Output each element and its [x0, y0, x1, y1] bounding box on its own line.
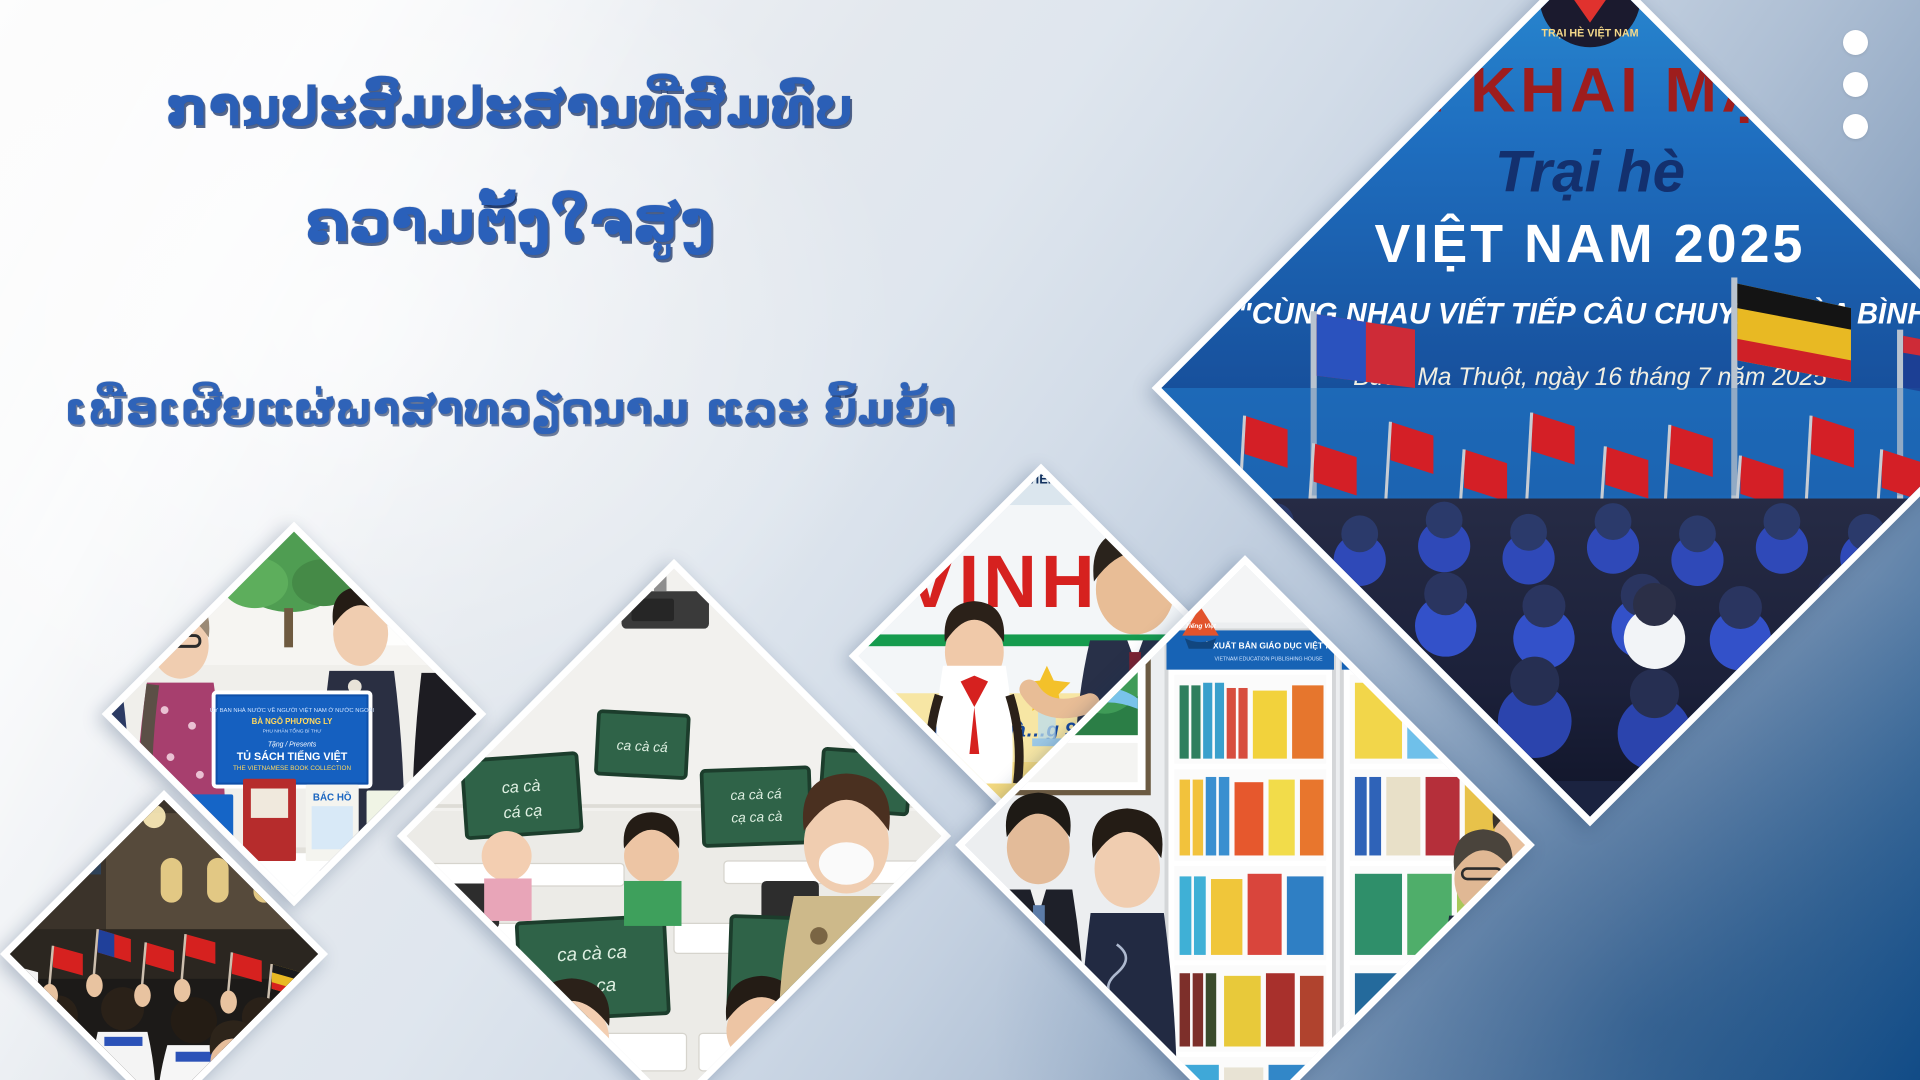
svg-text:ca cà cá: ca cà cá	[730, 786, 782, 803]
svg-text:THE VIETNAMESE BOOK COLLECTION: THE VIETNAMESE BOOK COLLECTION	[233, 765, 351, 772]
svg-text:cá cạ: cá cạ	[503, 802, 543, 823]
svg-text:Tiếng Việt: Tiếng Việt	[1185, 622, 1217, 630]
headline-line-2: ຄວາມຕັ້ງໃຈສູງ	[0, 182, 1020, 260]
headline-line-1: ການປະສົມປະສານທີ່ສົມທົບ	[0, 74, 1020, 142]
svg-text:ca cà cá: ca cà cá	[616, 738, 668, 756]
svg-text:cạ ca cà: cạ ca cà	[731, 809, 783, 826]
svg-text:LỄ KHAI MẠC: LỄ KHAI MẠC	[1358, 55, 1821, 126]
presentation-slide: ການປະສົມປະສານທີ່ສົມທົບ ຄວາມຕັ້ງໃຈສູງ ເພື…	[0, 0, 1920, 1080]
svg-text:Tặng / Presents: Tặng / Presents	[268, 741, 317, 748]
svg-text:ca cà: ca cà	[501, 777, 541, 798]
svg-text:BÁC HỒ: BÁC HỒ	[313, 791, 352, 803]
svg-text:NHÀ XUẤT BẢN GIÁO DỤC VIỆT NAM: NHÀ XUẤT BẢN GIÁO DỤC VIỆT NAM	[1192, 640, 1345, 651]
svg-text:TRẠI HÈ VIỆT NAM: TRẠI HÈ VIỆT NAM	[1541, 26, 1638, 39]
svg-text:TỦ SÁCH TIẾNG VIỆT: TỦ SÁCH TIẾNG VIỆT	[237, 750, 348, 763]
menu-dot-icon[interactable]	[1843, 114, 1868, 139]
svg-text:BÀ NGÔ PHƯƠNG LY: BÀ NGÔ PHƯƠNG LY	[252, 717, 334, 726]
headline-block: ການປະສົມປະສານທີ່ສົມທົບ ຄວາມຕັ້ງໃຈສູງ ເພື…	[0, 74, 1020, 440]
headline-line-3: ເພື່ອເຜີຍແຜ່ພາສາທວຽດນາມ ແລະ ຍິ້ມຍ້າ	[0, 380, 1020, 439]
svg-text:VIỆT NAM 2025: VIỆT NAM 2025	[1374, 213, 1805, 274]
svg-text:PHU NHÂN TỔNG BÍ THƯ: PHU NHÂN TỔNG BÍ THƯ	[263, 728, 322, 735]
svg-text:THỦ ĐÔ VIÊNG CHĂN: THỦ ĐÔ VIÊNG CHĂN	[975, 474, 1107, 487]
svg-text:Trại hè: Trại hè	[1495, 139, 1685, 204]
menu-dot-icon[interactable]	[1843, 72, 1868, 97]
svg-text:VINH: VINH	[905, 540, 1099, 623]
svg-text:ỦY BAN NHÀ NƯỚC VỀ NGƯỜI VIỆT: ỦY BAN NHÀ NƯỚC VỀ NGƯỜI VIỆT NAM Ở NƯỚC…	[210, 706, 375, 714]
more-options-menu[interactable]	[1843, 30, 1868, 139]
svg-text:ca cà ca: ca cà ca	[557, 941, 628, 966]
menu-dot-icon[interactable]	[1843, 30, 1868, 55]
svg-text:NGÀY HỘI: NGÀY HỘI	[29, 829, 74, 840]
svg-text:Buôn Ma Thuột, ngày 16 tháng 7: Buôn Ma Thuột, ngày 16 tháng 7 năm 2025	[1353, 364, 1827, 391]
svg-text:VIETNAM EDUCATION PUBLISHING H: VIETNAM EDUCATION PUBLISHING HOUSE	[1215, 657, 1324, 663]
